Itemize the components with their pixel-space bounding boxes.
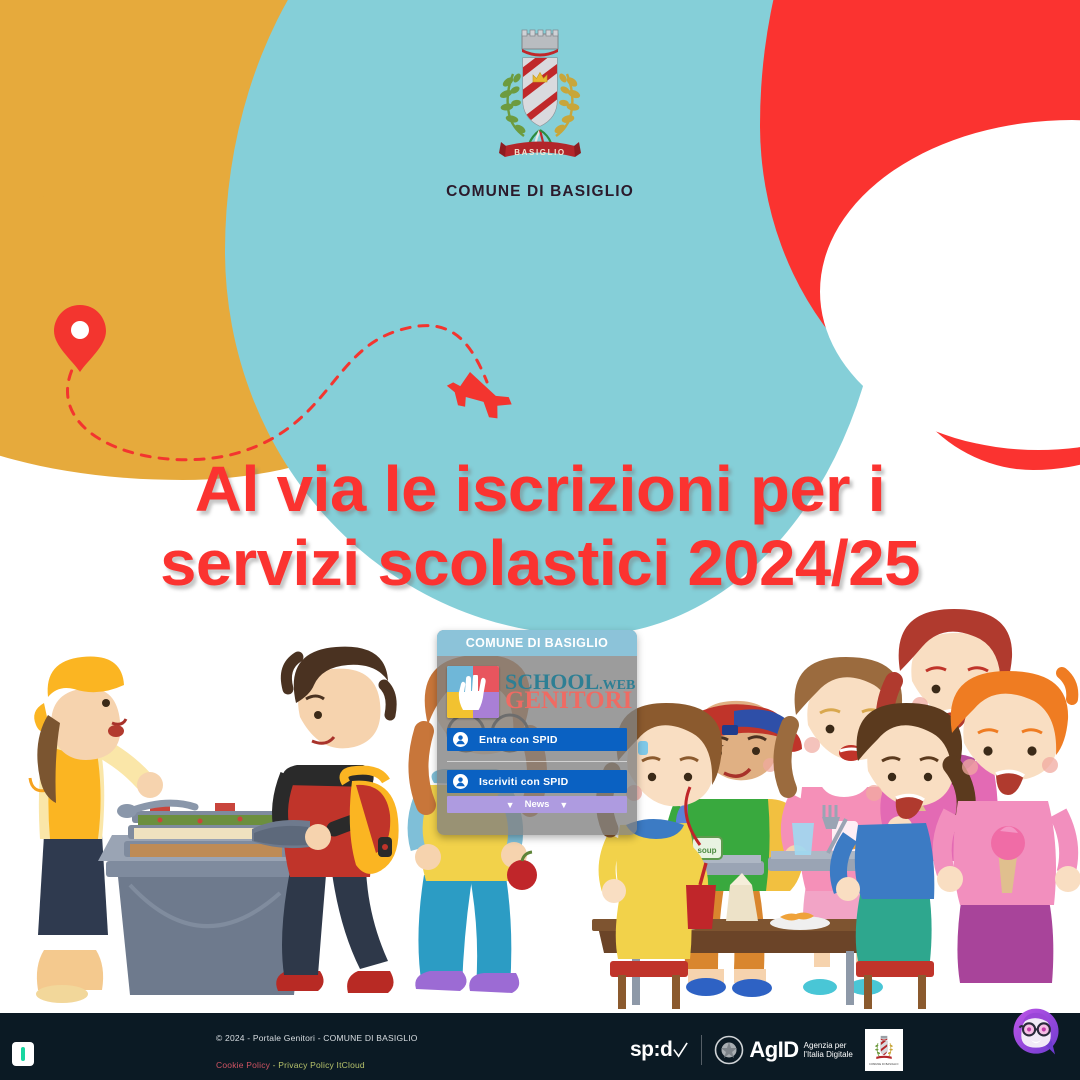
airplane-icon	[441, 365, 516, 427]
login-card-body: SCHOOL.WEB GENITORI Entra con SPID	[437, 656, 637, 813]
check-icon	[672, 1042, 689, 1059]
coat-of-arms-mini-icon	[873, 1034, 895, 1062]
comune-logo-footer: COMUNE DI BASIGLIO	[865, 1029, 903, 1071]
logo-divider	[701, 1035, 702, 1065]
card-divider	[447, 761, 627, 762]
entra-con-spid-button[interactable]: Entra con SPID	[447, 728, 627, 751]
news-label: News	[525, 799, 550, 810]
cookie-policy-link[interactable]: Cookie Policy	[216, 1060, 270, 1070]
privacy-policy-link[interactable]: Privacy Policy ItCloud	[278, 1060, 365, 1070]
chevron-down-icon-left: ▼	[506, 800, 515, 810]
agid-logo: AgID Agenzia per l'Italia Digitale	[714, 1035, 852, 1065]
entra-con-spid-label: Entra con SPID	[479, 734, 558, 746]
spid-logo: sp:d	[630, 1038, 689, 1062]
login-card-header: COMUNE DI BASIGLIO	[437, 630, 637, 656]
illustration-boy-icecream	[937, 671, 1080, 983]
logo-genitori-text: GENITORI	[505, 689, 635, 713]
user-icon	[447, 774, 473, 789]
headline-line-2: servizi scolastici 2024/25	[0, 526, 1080, 600]
page-footer: © 2024 - Portale Genitori - COMUNE DI BA…	[0, 1013, 1080, 1080]
footer-text-block: © 2024 - Portale Genitori - COMUNE DI BA…	[216, 1033, 418, 1070]
portal-logo-text: SCHOOL.WEB GENITORI	[505, 672, 635, 713]
iscriviti-con-spid-button[interactable]: Iscriviti con SPID	[447, 770, 627, 793]
agid-subtitle: Agenzia per l'Italia Digitale	[804, 1041, 853, 1059]
crest-caption: COMUNE DI BASIGLIO	[0, 183, 1080, 201]
copyright-text: © 2024 - Portale Genitori - COMUNE DI BA…	[216, 1033, 418, 1043]
hand-logo-icon	[447, 666, 499, 718]
policy-links: Cookie Policy - Privacy Policy ItCloud	[216, 1060, 418, 1070]
headline-line-1: Al via le iscrizioni per i	[0, 452, 1080, 526]
chat-avatar-icon[interactable]	[1010, 1006, 1062, 1058]
coat-of-arms-icon: BASIGLIO	[465, 22, 615, 172]
map-pin-icon	[54, 305, 106, 372]
news-bar[interactable]: ▼ News ▼	[447, 796, 627, 813]
crest-scroll-text: BASIGLIO	[514, 148, 565, 157]
login-card: COMUNE DI BASIGLIO SCHOOL.WEB GENITORI	[437, 630, 637, 835]
page-title: Al via le iscrizioni per i servizi scola…	[0, 452, 1080, 600]
republic-emblem-icon	[714, 1035, 744, 1065]
comune-mini-caption: COMUNE DI BASIGLIO	[869, 1063, 898, 1066]
cookie-consent-icon[interactable]	[12, 1042, 34, 1066]
agid-name: AgID	[749, 1037, 798, 1063]
spid-logo-text: sp:d	[630, 1038, 672, 1062]
portal-logo: SCHOOL.WEB GENITORI	[447, 664, 627, 720]
footer-logos: sp:d AgID Agenzia per l'Italia Digitale	[630, 1029, 903, 1071]
dashed-route-path	[67, 326, 487, 460]
apple-icon	[507, 860, 537, 890]
chevron-down-icon-right: ▼	[559, 800, 568, 810]
poster-canvas: BASIGLIO COMUNE DI BASIGLIO Al via le is…	[0, 0, 1080, 1080]
svg-text:soup: soup	[697, 846, 716, 855]
municipal-crest-block: BASIGLIO COMUNE DI BASIGLIO	[0, 22, 1080, 201]
user-icon	[447, 732, 473, 747]
white-hand-icon	[456, 675, 490, 711]
iscriviti-con-spid-label: Iscriviti con SPID	[479, 776, 568, 788]
